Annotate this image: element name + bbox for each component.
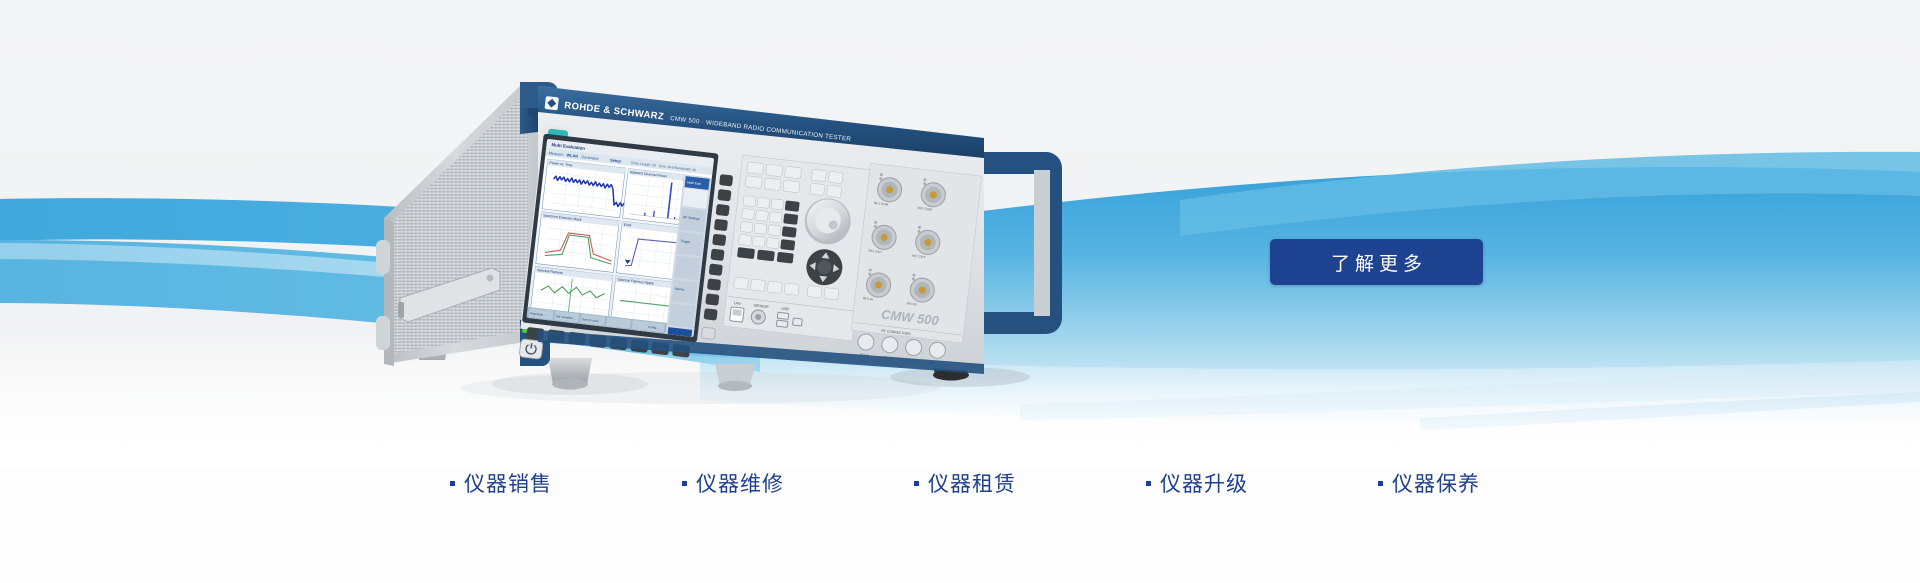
square-bullet-icon	[914, 481, 919, 486]
service-link-repair[interactable]: 仪器维修	[682, 468, 784, 498]
fn-key-9[interactable]	[827, 185, 842, 198]
service-link-label: 仪器保养	[1392, 468, 1480, 498]
usb-port-1[interactable]	[776, 320, 788, 327]
service-link-row: 仪器销售 仪器维修 仪器租赁 仪器升级 仪器保养	[450, 466, 1480, 500]
carry-handle-right	[984, 152, 1062, 334]
plot-power-vs-time: Power vs. Time	[542, 159, 634, 219]
module-slot-latch	[398, 302, 404, 318]
hw-vkey-1[interactable]	[717, 189, 731, 201]
hw-vkey-4[interactable]	[712, 234, 726, 246]
hw-vkey-7[interactable]	[707, 278, 721, 290]
low-key-4[interactable]	[807, 286, 822, 299]
fn-key-6[interactable]	[811, 169, 826, 182]
softkey-marker[interactable]	[671, 279, 697, 304]
service-link-label: 仪器升级	[1160, 468, 1248, 498]
service-link-sales[interactable]: 仪器销售	[450, 468, 552, 498]
keypad-block: LAN SENSOR USB	[723, 155, 872, 341]
fn-key-7[interactable]	[828, 171, 843, 184]
instrument-illustration: ROHDE & SCHWARZ CMW 500 · WIDEBAND RADIO…	[370, 72, 1100, 412]
service-link-upgrade[interactable]: 仪器升级	[1146, 468, 1248, 498]
square-bullet-icon	[450, 481, 455, 486]
fn-key-2[interactable]	[784, 166, 801, 179]
plot-spectrum-emission-mask: Spectrum Emission Mask	[536, 212, 619, 273]
low-key-0[interactable]	[733, 277, 748, 290]
usb-port-0[interactable]	[777, 312, 789, 319]
softkey-rf-settings[interactable]	[680, 208, 706, 233]
fn-key-4[interactable]	[764, 178, 781, 191]
softkey-spare-2[interactable]	[669, 303, 695, 328]
numkey-3[interactable]	[768, 225, 781, 236]
hw-vkey-0[interactable]	[719, 174, 733, 186]
module-slot-screw	[487, 275, 494, 282]
service-link-label: 仪器租赁	[928, 468, 1016, 498]
numkey-4[interactable]	[741, 208, 754, 219]
hw-vkey-2[interactable]	[716, 204, 730, 216]
fn-key-5[interactable]	[783, 180, 800, 193]
rf-connector-panel: RF1 COM RF2 COM RF1 OUT RF2 OUT RF3 IN R…	[848, 163, 981, 368]
service-link-rental[interactable]: 仪器租赁	[914, 468, 1016, 498]
hw-vkey-5[interactable]	[710, 249, 724, 261]
softkey-info-panel[interactable]	[682, 188, 708, 209]
hw-vkey-6[interactable]	[709, 263, 723, 275]
numkey-2[interactable]	[754, 223, 767, 234]
fn-key-8[interactable]	[810, 183, 825, 196]
numkey-1[interactable]	[740, 221, 753, 232]
fn-key-1[interactable]	[766, 164, 783, 177]
hw-vkey-3[interactable]	[714, 219, 728, 231]
fn-key-0[interactable]	[747, 162, 764, 175]
plot-bar-3	[674, 217, 676, 219]
hw-vkey-tasks[interactable]	[701, 327, 715, 339]
usb-port-2[interactable]	[793, 318, 803, 326]
square-bullet-icon	[1378, 481, 1383, 486]
key-enter-wide[interactable]	[777, 252, 794, 264]
numkey-7[interactable]	[743, 196, 756, 207]
io-label-lan: LAN	[733, 301, 741, 306]
carry-handle-grip	[1034, 170, 1050, 316]
numkey-unit-2[interactable]	[782, 226, 797, 238]
key-back-space[interactable]	[737, 247, 755, 259]
low-key-2[interactable]	[767, 281, 782, 294]
rohde-schwarz-logo-icon	[545, 96, 559, 110]
low-key-1[interactable]	[750, 279, 765, 292]
learn-more-button[interactable]: 了解更多	[1270, 239, 1483, 285]
service-link-label: 仪器销售	[464, 468, 552, 498]
key-on-off[interactable]	[757, 249, 775, 261]
numkey-unit-1[interactable]	[783, 213, 798, 225]
cmw500-instrument-image: ROHDE & SCHWARZ CMW 500 · WIDEBAND RADIO…	[370, 72, 1100, 412]
side-handle-bottom	[376, 316, 390, 350]
foot-pad-left	[552, 379, 588, 390]
numkey-dot[interactable]	[752, 236, 765, 247]
side-handle-top	[376, 240, 390, 274]
numkey-unit-0[interactable]	[785, 200, 800, 212]
hw-vkey-9[interactable]	[704, 308, 718, 320]
numeric-keypad	[737, 196, 800, 264]
hw-vkey-8[interactable]	[705, 293, 719, 305]
numkey-0[interactable]	[738, 234, 751, 245]
plot-title-3: EVM	[624, 223, 632, 228]
foot-pad-mid	[718, 381, 752, 391]
numkey-enter[interactable]	[780, 239, 795, 251]
low-key-5[interactable]	[824, 287, 839, 300]
numkey-8[interactable]	[757, 197, 770, 208]
fn-key-3[interactable]	[745, 176, 762, 189]
service-link-maintenance[interactable]: 仪器保养	[1378, 468, 1480, 498]
numkey-5[interactable]	[755, 210, 768, 221]
square-bullet-icon	[682, 481, 687, 486]
rail-screw-left	[528, 108, 536, 116]
numkey-9[interactable]	[771, 199, 784, 210]
hero-banner: ROHDE & SCHWARZ CMW 500 · WIDEBAND RADIO…	[0, 0, 1920, 583]
softkey-spare-1[interactable]	[674, 256, 700, 281]
numkey-minus[interactable]	[766, 238, 779, 249]
square-bullet-icon	[1146, 481, 1151, 486]
low-key-3[interactable]	[784, 283, 799, 296]
numkey-6[interactable]	[769, 212, 782, 223]
service-link-label: 仪器维修	[696, 468, 784, 498]
softkey-trigger[interactable]	[677, 232, 703, 257]
